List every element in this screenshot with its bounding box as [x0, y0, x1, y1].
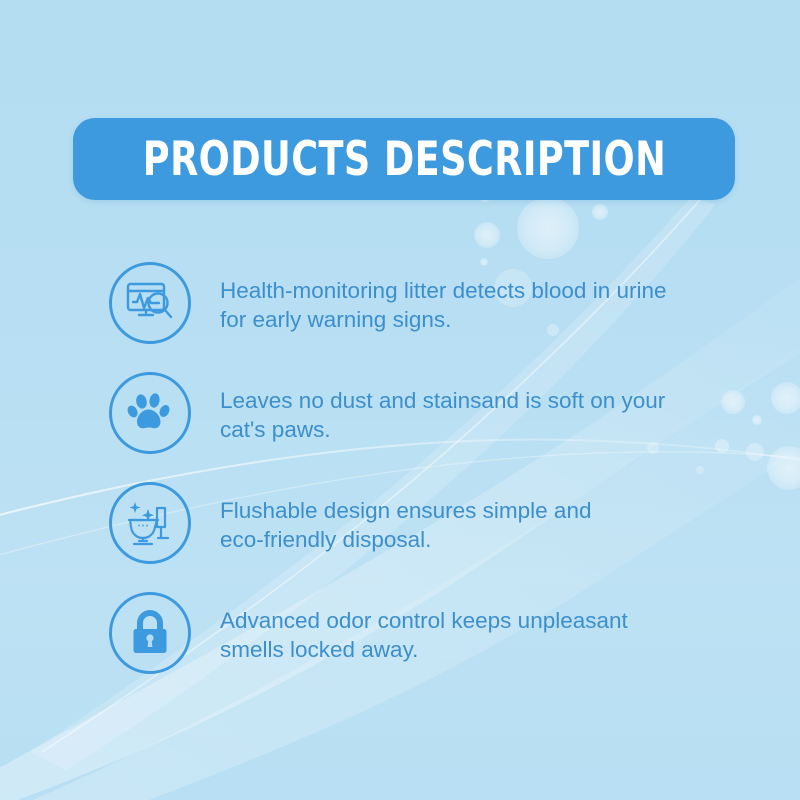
- product-description-poster: PRODUCTS DESCRIPTION Health-: [0, 0, 800, 800]
- icon-badge: [109, 262, 191, 344]
- feature-row: Leaves no dust and stainsand is soft on …: [0, 372, 800, 482]
- feature-row: Flushable design ensures simple and eco-…: [0, 482, 800, 592]
- icon-badge: [109, 592, 191, 674]
- feature-text: Health-monitoring litter detects blood i…: [220, 276, 740, 334]
- feature-text: Leaves no dust and stainsand is soft on …: [220, 386, 740, 444]
- feature-row: Advanced odor control keeps unpleasant s…: [0, 592, 800, 702]
- header-banner: PRODUCTS DESCRIPTION: [73, 118, 735, 200]
- feature-row: Health-monitoring litter detects blood i…: [0, 262, 800, 372]
- icon-badge: [109, 372, 191, 454]
- health-monitor-icon: [125, 280, 175, 326]
- toilet-sparkle-icon: [125, 499, 175, 547]
- icon-badge: [109, 482, 191, 564]
- page-title: PRODUCTS DESCRIPTION: [142, 136, 665, 183]
- paw-print-icon: [127, 390, 173, 436]
- feature-list: Health-monitoring litter detects blood i…: [0, 262, 800, 702]
- padlock-icon: [129, 609, 171, 657]
- feature-text: Advanced odor control keeps unpleasant s…: [220, 606, 740, 664]
- feature-text: Flushable design ensures simple and eco-…: [220, 496, 740, 554]
